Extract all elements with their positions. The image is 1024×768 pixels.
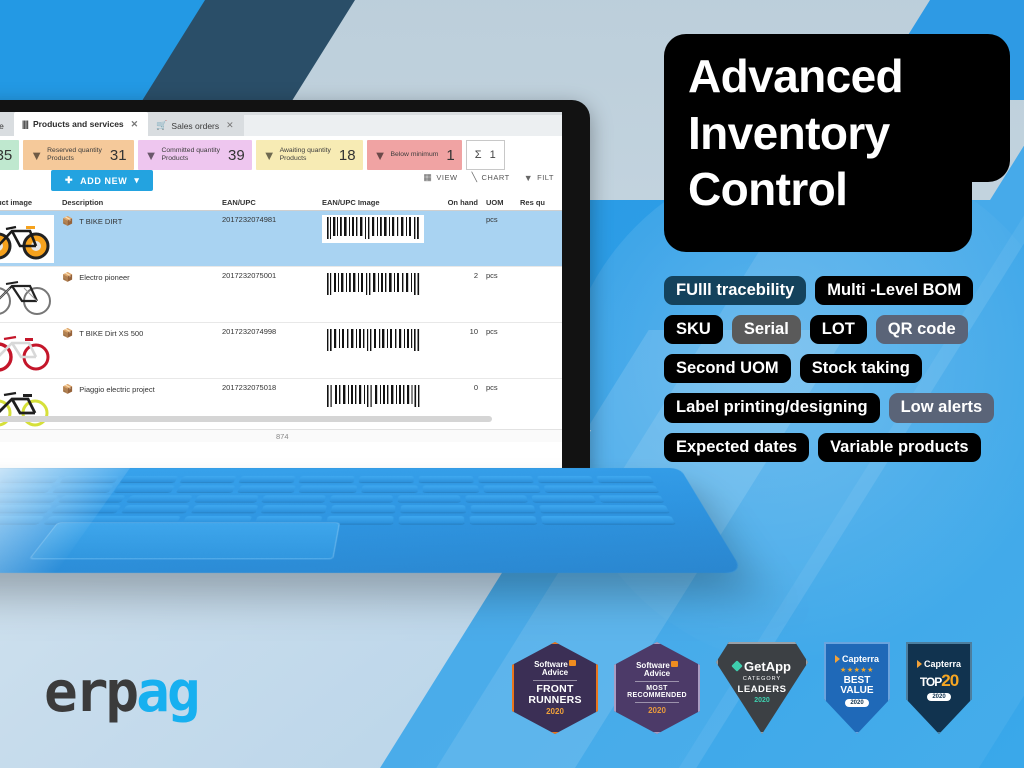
kpi-value: 1 <box>446 147 454 164</box>
description-cell: 📦 Electro pioneer <box>58 271 218 283</box>
kpi-title-line1: Awaiting quantity <box>280 147 331 155</box>
barcode-cell <box>318 215 430 243</box>
chart-icon: ╲ <box>472 172 478 183</box>
on-hand-cell: 10 <box>430 327 482 336</box>
kpi-on-hand-products[interactable]: nd ts 35 <box>0 140 19 170</box>
badge-software-advice-front-runners: SoftwareAdvice FRONTRUNNERS 2020 <box>512 642 598 734</box>
description-cell: 📦 T BIKE DIRT <box>58 215 218 227</box>
funnel-icon: ▼ <box>145 149 158 162</box>
bmx-red-icon <box>0 329 52 373</box>
barcode-cell <box>318 271 430 299</box>
table-row[interactable]: 📦 T BIKE Dirt XS 500 2017232074998 <box>0 323 562 379</box>
tag-row: Second UOM Stock taking <box>664 354 1014 383</box>
col-ean-upc-image: EAN/UPC Image <box>318 198 430 207</box>
kpi-value: 31 <box>110 147 127 164</box>
feature-tag-list: FUlll tracebility Multi -Level BOM SKU S… <box>664 276 1014 472</box>
badge-capterra-top-20: Capterra TOP20 2020 <box>906 642 972 734</box>
badge-software-advice-most-recommended: SoftwareAdvice MOSTRECOMMENDED 2020 <box>614 642 700 734</box>
badge-year: 2020 <box>546 707 564 716</box>
horizontal-scrollbar[interactable] <box>0 416 492 422</box>
barcode-cell <box>318 327 430 355</box>
tag-low-alerts[interactable]: Low alerts <box>889 393 995 422</box>
kpi-title-line1: Committed quantity <box>161 147 220 155</box>
uom-cell: pcs <box>482 215 516 224</box>
kpi-title-line2: Products <box>280 155 331 163</box>
view-button[interactable]: ▦ VIEW <box>423 172 457 183</box>
erpag-logo: erpag <box>44 660 198 725</box>
barcode-icon <box>325 385 421 407</box>
getapp-diamond-icon <box>731 660 742 671</box>
kpi-title-line2: Products <box>161 155 220 163</box>
uom-cell: pcs <box>482 383 516 392</box>
ean-cell: 2017232075001 <box>218 271 318 280</box>
chart-button[interactable]: ╲ CHART <box>472 172 510 183</box>
hero-title-line-3: Control <box>688 161 1008 218</box>
tag-qr-code[interactable]: QR code <box>876 315 968 344</box>
keyboard-row <box>0 476 654 482</box>
badge-brand: Capterra <box>917 659 961 669</box>
badge-sub: CATEGORY <box>743 676 781 682</box>
badge-brand: GetApp <box>733 659 791 674</box>
table-row[interactable]: 📦 Piaggio electric project 2017232075018 <box>0 379 562 435</box>
table-row[interactable]: 📦 T BIKE DIRT 2017232074981 <box>0 211 562 267</box>
tab-page-label: Page <box>0 121 4 131</box>
capterra-arrow-icon <box>917 660 922 668</box>
kpi-value: 35 <box>0 147 12 164</box>
tabbar-filler <box>244 115 562 136</box>
table-row[interactable]: 📦 Electro pioneer 2017232075001 <box>0 267 562 323</box>
badge-year: 2020 <box>927 693 950 701</box>
badge-year: 2020 <box>754 697 770 704</box>
kpi-value: 39 <box>228 147 245 164</box>
badge-main: BESTVALUE <box>840 676 873 697</box>
ean-cell: 2017232074998 <box>218 327 318 336</box>
table-header: Product image Description EAN/UPC EAN/UP… <box>0 198 562 211</box>
ean-cell: 2017232074981 <box>218 215 318 224</box>
hero-title-line-1: Advanced <box>688 48 1008 105</box>
table-footer: 874 <box>0 429 562 442</box>
tag-stock-taking[interactable]: Stock taking <box>800 354 922 383</box>
on-hand-cell: 2 <box>430 271 482 280</box>
funnel-icon: ▼ <box>30 149 43 162</box>
ebike-yellow-icon <box>0 385 52 429</box>
badge-main: FRONTRUNNERS <box>528 684 581 705</box>
description-cell: 📦 T BIKE Dirt XS 500 <box>58 327 218 339</box>
badge-year: 2020 <box>648 706 666 715</box>
kpi-title-line2: Products <box>47 155 102 163</box>
close-icon[interactable]: ✕ <box>131 119 139 130</box>
kpi-below-minimum[interactable]: ▼ Below minimum 1 <box>367 140 462 170</box>
footer-total: 874 <box>276 432 289 441</box>
product-image-cell <box>0 215 58 263</box>
logo-text-ag: ag <box>136 660 197 725</box>
hero-title-line-2: Inventory <box>688 105 1008 162</box>
laptop-keyboard <box>0 468 744 573</box>
barcode-icon <box>325 217 421 239</box>
tab-page[interactable]: Page <box>0 115 14 136</box>
award-badges: SoftwareAdvice FRONTRUNNERS 2020 Softwar… <box>512 642 972 734</box>
barcode-icon <box>325 273 421 295</box>
kpi-tiles: nd ts 35 ▼ Reserved quantity Products 31 <box>0 136 562 170</box>
kpi-committed-quantity[interactable]: ▼ Committed quantity Products 39 <box>138 140 252 170</box>
col-uom: UOM <box>482 198 516 207</box>
product-image-cell <box>0 383 58 431</box>
badge-brand: SoftwareAdvice <box>636 661 678 679</box>
grid-icon: |||| <box>22 119 28 129</box>
tab-products-label: Products and services <box>33 119 124 129</box>
keyboard-row <box>0 485 659 492</box>
ean-cell: 2017232075018 <box>218 383 318 392</box>
kpi-reserved-quantity[interactable]: ▼ Reserved quantity Products 31 <box>23 140 133 170</box>
product-description: Piaggio electric project <box>79 385 154 394</box>
kpi-awaiting-quantity[interactable]: ▼ Awaiting quantity Products 18 <box>256 140 363 170</box>
barcode-icon <box>325 329 421 351</box>
road-bike-icon <box>0 273 52 317</box>
capterra-arrow-icon <box>835 655 840 663</box>
bicycle-thumbnail <box>0 215 54 263</box>
kpi-sum-box[interactable]: Σ 1 <box>466 140 505 170</box>
tag-label-printing-designing[interactable]: Label printing/designing <box>664 393 880 422</box>
col-product-image: Product image <box>0 198 58 207</box>
badge-capterra-best-value: Capterra ★★★★★ BESTVALUE 2020 <box>824 642 890 734</box>
products-table: Product image Description EAN/UPC EAN/UP… <box>0 198 562 435</box>
sigma-value: 1 <box>490 149 496 161</box>
filter-button[interactable]: ▼ FILT <box>524 173 554 183</box>
tab-products-and-services[interactable]: |||| Products and services ✕ <box>14 112 148 136</box>
product-description: Electro pioneer <box>79 273 129 282</box>
tag-row: Label printing/designing Low alerts <box>664 393 1014 422</box>
tag-sku[interactable]: SKU <box>664 315 723 344</box>
tag-lot[interactable]: LOT <box>810 315 867 344</box>
grid-icon: ▦ <box>423 172 432 183</box>
chevron-down-icon: ▾ <box>134 175 139 186</box>
col-description: Description <box>58 198 218 207</box>
star-rating-icon: ★★★★★ <box>840 666 874 674</box>
keyboard-keys <box>0 476 675 524</box>
sigma-icon: Σ <box>475 149 482 161</box>
badge-getapp-category-leaders: GetApp CATEGORY LEADERS 2020 <box>716 642 808 734</box>
funnel-icon: ▼ <box>524 173 533 183</box>
bicycle-thumbnail <box>0 327 54 375</box>
hero-title-block: Advanced Inventory Control <box>664 34 1010 252</box>
uom-cell: pcs <box>482 271 516 280</box>
badge-year: 2020 <box>845 699 868 707</box>
logo-text-erp: erp <box>44 660 136 725</box>
tag-variable-products[interactable]: Variable products <box>818 433 980 462</box>
action-row: ✚ ADD NEW ▾ ▦ VIEW ╲ CHART <box>0 170 562 192</box>
plus-icon: ✚ <box>65 175 73 186</box>
on-hand-cell: 0 <box>430 383 482 392</box>
badge-brand: Capterra <box>835 654 879 664</box>
tag-row: SKU Serial LOT QR code <box>664 315 1014 344</box>
tab-sales-orders[interactable]: 🛒 Sales orders ✕ <box>148 115 243 136</box>
view-label: VIEW <box>436 173 457 182</box>
filter-label: FILT <box>537 173 554 182</box>
app-tabbar: Page |||| Products and services ✕ 🛒 Sale… <box>0 112 562 136</box>
col-on-hand: On hand <box>430 198 482 207</box>
kpi-value: 18 <box>339 147 356 164</box>
product-description: T BIKE Dirt XS 500 <box>79 329 143 338</box>
product-image-cell <box>0 271 58 319</box>
keyboard-row <box>0 505 669 512</box>
cart-icon: 🛒 <box>156 120 166 131</box>
trackpad[interactable] <box>29 522 340 559</box>
tag-second-uom[interactable]: Second UOM <box>664 354 791 383</box>
uom-cell: pcs <box>482 327 516 336</box>
badge-main: LEADERS <box>738 684 787 695</box>
funnel-icon: ▼ <box>374 149 387 162</box>
kpi-title-line1: Reserved quantity <box>47 147 102 155</box>
badge-main: MOSTRECOMMENDED <box>627 685 687 699</box>
tag-serial[interactable]: Serial <box>732 315 801 344</box>
col-reserved-qty: Res qu <box>516 198 562 207</box>
keyboard-row <box>0 495 664 502</box>
barcode-cell <box>318 383 430 411</box>
tab-sales-orders-label: Sales orders <box>171 121 219 131</box>
bicycle-thumbnail <box>0 271 54 319</box>
add-new-button[interactable]: ✚ ADD NEW ▾ <box>51 170 153 191</box>
app-body: nd ts 35 ▼ Reserved quantity Products 31 <box>0 136 562 468</box>
box-icon: 📦 <box>62 272 73 283</box>
description-cell: 📦 Piaggio electric project <box>58 383 218 395</box>
box-icon: 📦 <box>62 328 73 339</box>
badge-brand: SoftwareAdvice <box>534 660 576 678</box>
bicycle-thumbnail <box>0 383 54 431</box>
page-title: Advanced Inventory Control <box>688 48 1008 218</box>
view-toolbar: ▦ VIEW ╲ CHART ▼ FILT <box>423 172 554 183</box>
kpi-title-line1: Below minimum <box>390 151 438 159</box>
app-screen: Page |||| Products and services ✕ 🛒 Sale… <box>0 112 562 468</box>
product-description: T BIKE DIRT <box>79 217 122 226</box>
close-icon[interactable]: ✕ <box>226 120 234 131</box>
add-new-label: ADD NEW <box>80 176 127 186</box>
box-icon: 📦 <box>62 384 73 395</box>
funnel-icon: ▼ <box>263 149 276 162</box>
tag-row: Expected dates Variable products <box>664 433 1014 462</box>
tag-row: FUlll tracebility Multi -Level BOM <box>664 276 1014 305</box>
col-ean-upc: EAN/UPC <box>218 198 318 207</box>
tag-expected-dates[interactable]: Expected dates <box>664 433 809 462</box>
tag-full-tracebility[interactable]: FUlll tracebility <box>664 276 806 305</box>
chart-label: CHART <box>482 173 510 182</box>
product-image-cell <box>0 327 58 375</box>
badge-main: TOP20 <box>920 671 958 691</box>
box-icon: 📦 <box>62 216 73 227</box>
mtb-orange-icon <box>0 217 52 261</box>
laptop-mockup: Page |||| Products and services ✕ 🛒 Sale… <box>0 100 670 630</box>
tag-multi-level-bom[interactable]: Multi -Level BOM <box>815 276 973 305</box>
laptop-screen-bezel: Page |||| Products and services ✕ 🛒 Sale… <box>0 100 590 480</box>
